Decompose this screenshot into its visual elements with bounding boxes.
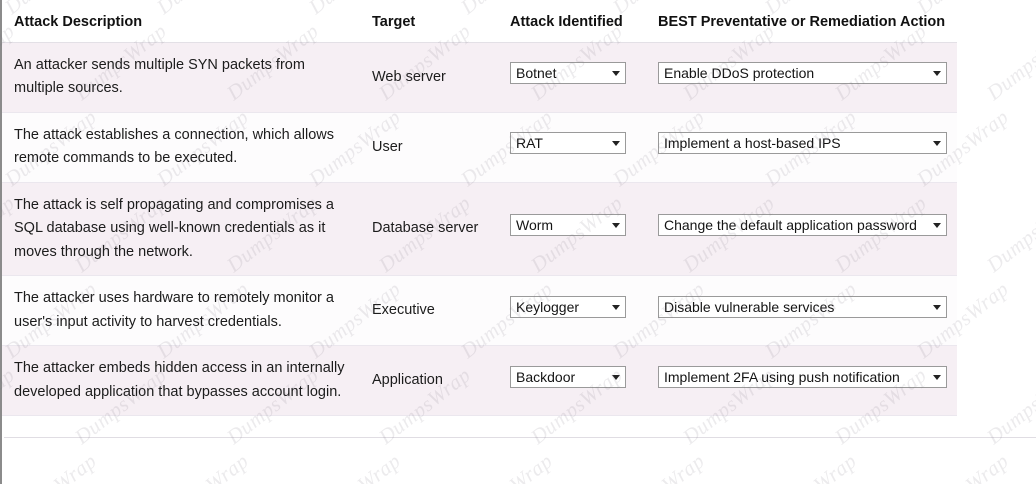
remediation-action-select[interactable]: Implement 2FA using push notification xyxy=(658,366,947,388)
column-header-attack-description: Attack Description xyxy=(2,0,360,43)
remediation-action-select[interactable]: Enable DDoS protection xyxy=(658,62,947,84)
table-row: The attacker uses hardware to remotely m… xyxy=(2,276,957,346)
attack-description-cell: The attacker uses hardware to remotely m… xyxy=(2,276,360,346)
attack-identified-select-value: Backdoor xyxy=(516,367,605,387)
target-cell: Executive xyxy=(360,276,498,346)
remediation-action-select[interactable]: Change the default application password xyxy=(658,214,947,236)
table-body: An attacker sends multiple SYN packets f… xyxy=(2,43,957,416)
chevron-down-icon xyxy=(612,223,620,228)
chevron-down-icon xyxy=(612,305,620,310)
attack-identification-table: Attack Description Target Attack Identif… xyxy=(2,0,957,416)
target-cell: Database server xyxy=(360,182,498,275)
bottom-divider xyxy=(4,437,1036,438)
attack-identified-cell: RAT xyxy=(498,112,646,182)
column-header-target: Target xyxy=(360,0,498,43)
table-header-row: Attack Description Target Attack Identif… xyxy=(2,0,957,43)
attack-description-cell: An attacker sends multiple SYN packets f… xyxy=(2,43,360,113)
remediation-action-cell: Disable vulnerable services xyxy=(646,276,957,346)
remediation-action-select[interactable]: Implement a host-based IPS xyxy=(658,132,947,154)
attack-identified-select[interactable]: Backdoor xyxy=(510,366,626,388)
remediation-action-cell: Implement 2FA using push notification xyxy=(646,346,957,416)
page-frame: Attack Description Target Attack Identif… xyxy=(0,0,1036,484)
remediation-action-select[interactable]: Disable vulnerable services xyxy=(658,296,947,318)
chevron-down-icon xyxy=(933,375,941,380)
attack-identified-select-value: RAT xyxy=(516,133,605,153)
attack-identified-cell: Keylogger xyxy=(498,276,646,346)
chevron-down-icon xyxy=(933,305,941,310)
remediation-action-select-value: Disable vulnerable services xyxy=(664,297,926,317)
attack-identified-cell: Worm xyxy=(498,182,646,275)
remediation-action-select-value: Implement 2FA using push notification xyxy=(664,367,926,387)
attack-description-cell: The attack is self propagating and compr… xyxy=(2,182,360,275)
attack-description-cell: The attacker embeds hidden access in an … xyxy=(2,346,360,416)
target-cell: Web server xyxy=(360,43,498,113)
attack-identified-select[interactable]: Keylogger xyxy=(510,296,626,318)
remediation-action-cell: Implement a host-based IPS xyxy=(646,112,957,182)
table-header: Attack Description Target Attack Identif… xyxy=(2,0,957,43)
attack-identified-cell: Botnet xyxy=(498,43,646,113)
remediation-action-select-value: Enable DDoS protection xyxy=(664,63,926,83)
remediation-action-select-value: Change the default application password xyxy=(664,215,926,235)
table-row: The attack is self propagating and compr… xyxy=(2,182,957,275)
attack-identified-select[interactable]: Worm xyxy=(510,214,626,236)
attack-description-cell: The attack establishes a connection, whi… xyxy=(2,112,360,182)
attack-identified-select-value: Worm xyxy=(516,215,605,235)
chevron-down-icon xyxy=(612,375,620,380)
column-header-remediation-action: BEST Preventative or Remediation Action xyxy=(646,0,957,43)
attack-identified-select-value: Keylogger xyxy=(516,297,605,317)
target-cell: Application xyxy=(360,346,498,416)
table-row: The attacker embeds hidden access in an … xyxy=(2,346,957,416)
target-cell: User xyxy=(360,112,498,182)
attack-identified-select[interactable]: Botnet xyxy=(510,62,626,84)
chevron-down-icon xyxy=(933,71,941,76)
column-header-attack-identified: Attack Identified xyxy=(498,0,646,43)
table-row: An attacker sends multiple SYN packets f… xyxy=(2,43,957,113)
attack-identified-cell: Backdoor xyxy=(498,346,646,416)
attack-identified-select-value: Botnet xyxy=(516,63,605,83)
attack-identified-select[interactable]: RAT xyxy=(510,132,626,154)
remediation-action-select-value: Implement a host-based IPS xyxy=(664,133,926,153)
chevron-down-icon xyxy=(612,71,620,76)
remediation-action-cell: Change the default application password xyxy=(646,182,957,275)
remediation-action-cell: Enable DDoS protection xyxy=(646,43,957,113)
chevron-down-icon xyxy=(933,141,941,146)
chevron-down-icon xyxy=(612,141,620,146)
chevron-down-icon xyxy=(933,223,941,228)
table-row: The attack establishes a connection, whi… xyxy=(2,112,957,182)
